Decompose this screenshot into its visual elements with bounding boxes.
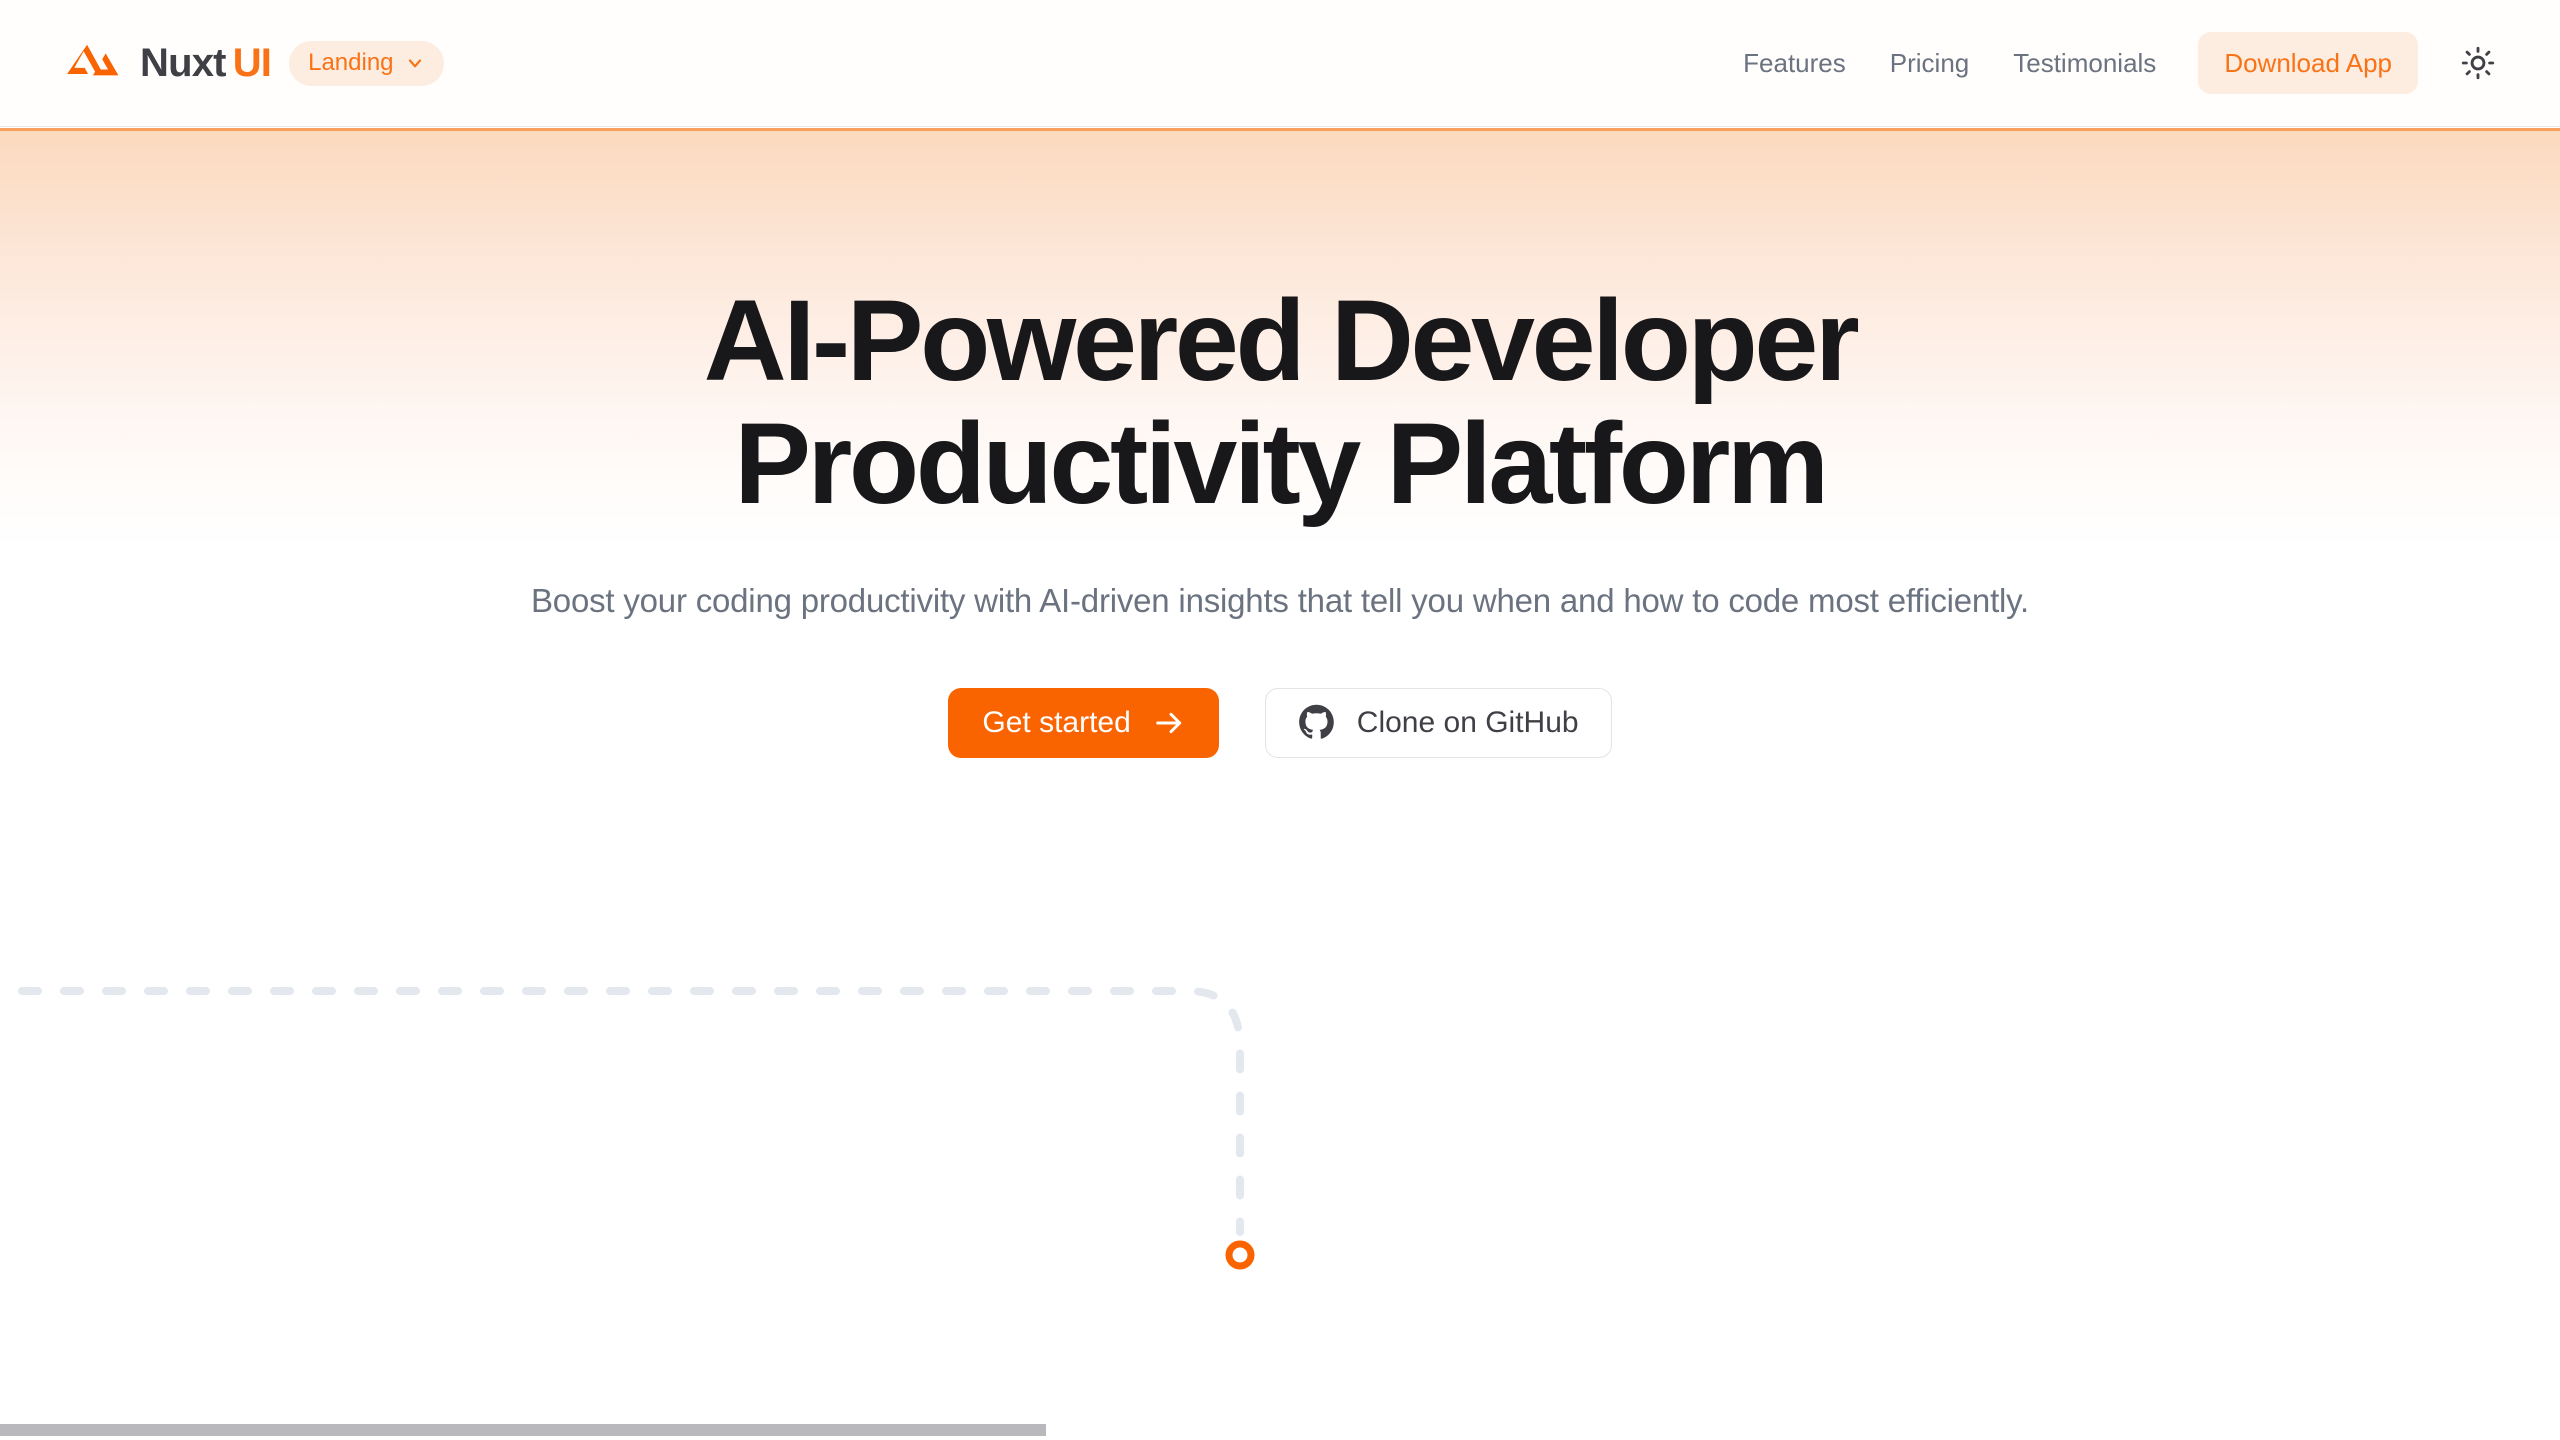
circle-outline-node-icon bbox=[1229, 1244, 1251, 1266]
sun-icon bbox=[2461, 46, 2495, 80]
chevron-down-icon bbox=[405, 53, 425, 73]
nav-item-features[interactable]: Features bbox=[1721, 40, 1868, 86]
page-title: AI-Powered Developer Productivity Platfo… bbox=[0, 280, 2560, 526]
landing-badge-label: Landing bbox=[308, 51, 393, 75]
hero-title-line-1: AI-Powered Developer bbox=[704, 277, 1857, 405]
header-left-group: NuxtUI Landing bbox=[64, 40, 444, 86]
landing-dropdown-badge[interactable]: Landing bbox=[289, 41, 443, 86]
landing-page: NuxtUI Landing Features Pricing Testimon… bbox=[0, 0, 2560, 1440]
brand-name-secondary: UI bbox=[233, 41, 271, 85]
site-header: NuxtUI Landing Features Pricing Testimon… bbox=[0, 0, 2560, 127]
brand-logo-link[interactable]: NuxtUI bbox=[64, 40, 271, 86]
arrow-right-icon bbox=[1153, 707, 1185, 739]
hero-subtitle: Boost your coding productivity with AI-d… bbox=[0, 576, 2560, 626]
hero-section: AI-Powered Developer Productivity Platfo… bbox=[0, 128, 2560, 758]
nav-item-pricing[interactable]: Pricing bbox=[1868, 40, 1991, 86]
download-app-button[interactable]: Download App bbox=[2198, 32, 2418, 94]
nuxt-mountain-logo-icon bbox=[64, 40, 126, 86]
hero-action-buttons: Get started Clone on GitHub bbox=[0, 688, 2560, 758]
brand-wordmark: NuxtUI bbox=[140, 43, 271, 83]
get-started-label: Get started bbox=[982, 708, 1130, 738]
theme-toggle-button[interactable] bbox=[2452, 37, 2504, 89]
github-icon bbox=[1298, 704, 1335, 741]
nav-item-testimonials[interactable]: Testimonials bbox=[1991, 40, 2178, 86]
brand-name-primary: Nuxt bbox=[140, 41, 226, 85]
get-started-button[interactable]: Get started bbox=[948, 688, 1218, 758]
dashed-connector-line bbox=[0, 991, 1240, 1232]
clone-on-github-button[interactable]: Clone on GitHub bbox=[1265, 688, 1612, 758]
main-navigation: Features Pricing Testimonials Download A… bbox=[1721, 32, 2504, 94]
hero-title-line-2: Productivity Platform bbox=[734, 400, 1826, 528]
horizontal-scrollbar[interactable] bbox=[0, 1418, 2560, 1440]
horizontal-scrollbar-thumb[interactable] bbox=[0, 1424, 1046, 1436]
clone-github-label: Clone on GitHub bbox=[1357, 708, 1579, 738]
